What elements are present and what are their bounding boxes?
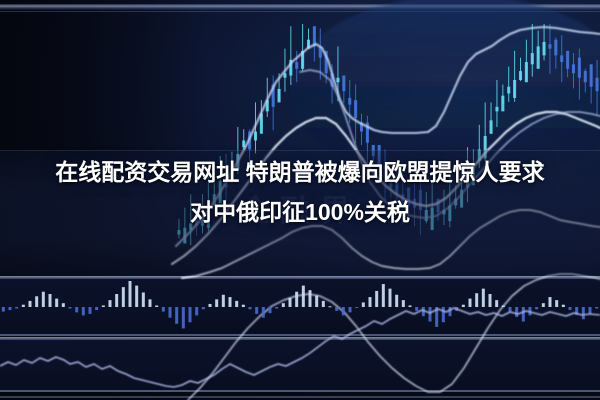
trend-line-path (0, 308, 600, 387)
headline-line-1: 在线配资交易网址 特朗普被爆向欧盟提惊人要求 (55, 159, 544, 185)
headline-overlay: 在线配资交易网址 特朗普被爆向欧盟提惊人要求 对中俄印征100%关税 (0, 152, 600, 232)
lower-slow-ma-line (188, 274, 600, 400)
headline-line-2: 对中俄印征100%关税 (0, 192, 600, 232)
news-thumbnail-image: 金融界 在线配资交易网址 特朗普被爆向欧盟提惊人要求 对中俄印征100%关税 (0, 0, 600, 400)
macd-histogram-series (2, 281, 598, 328)
trend-line-series (0, 308, 600, 387)
headline-top-divider (0, 150, 600, 151)
